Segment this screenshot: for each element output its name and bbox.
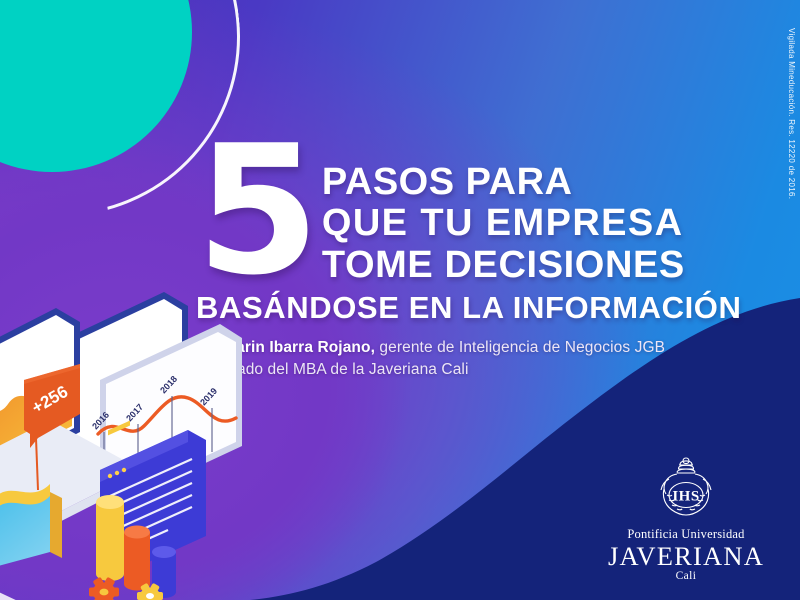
illustration-floor-area-chart <box>0 484 62 600</box>
byline-author: Karin Ibarra Rojano, <box>225 339 375 356</box>
svg-text:IHS: IHS <box>672 488 699 504</box>
headline-block: 5 PASOS PARA QUE TU EMPRESA TOME DECISIO… <box>196 140 708 381</box>
headline-lines: PASOS PARA QUE TU EMPRESA TOME DECISIONE… <box>322 140 685 286</box>
headline-subline: BASÁNDOSE EN LA INFORMACIÓN <box>196 290 708 326</box>
headline-row: 5 PASOS PARA QUE TU EMPRESA TOME DECISIO… <box>196 140 708 286</box>
headline-line-3: TOME DECISIONES <box>322 245 685 286</box>
byline-role: gerente de Inteligencia de Negocios JGB <box>375 339 665 356</box>
headline-number-five: 5 <box>196 142 314 281</box>
logo-line-javeriana: JAVERIANA <box>608 542 764 570</box>
headline-line-1: PASOS PARA <box>322 162 685 203</box>
isometric-data-illustration: 2016 2017 2018 2019 <box>0 284 242 600</box>
ihs-crest-icon: IHS <box>647 455 725 523</box>
headline-line-2: QUE TU EMPRESA <box>322 203 685 244</box>
bar-yellow <box>96 495 124 581</box>
bar-orange <box>124 526 150 591</box>
byline-block: Por Karin Ibarra Rojano, gerente de Inte… <box>196 337 708 381</box>
byline-line-2: Egresado del MBA de la Javeriana Cali <box>196 359 708 381</box>
logo-line-cali: Cali <box>608 570 764 582</box>
vigilada-mineducacion-text: Vigilada Mineducación. Res. 12220 de 201… <box>787 28 796 199</box>
byline-line-1: Por Karin Ibarra Rojano, gerente de Inte… <box>196 337 708 359</box>
logo-line-pontificia: Pontificia Universidad <box>608 527 764 542</box>
poster-canvas: Vigilada Mineducación. Res. 12220 de 201… <box>0 0 800 600</box>
javeriana-logo: IHS Pontificia Universidad JAVERIANA Cal… <box>608 455 764 582</box>
